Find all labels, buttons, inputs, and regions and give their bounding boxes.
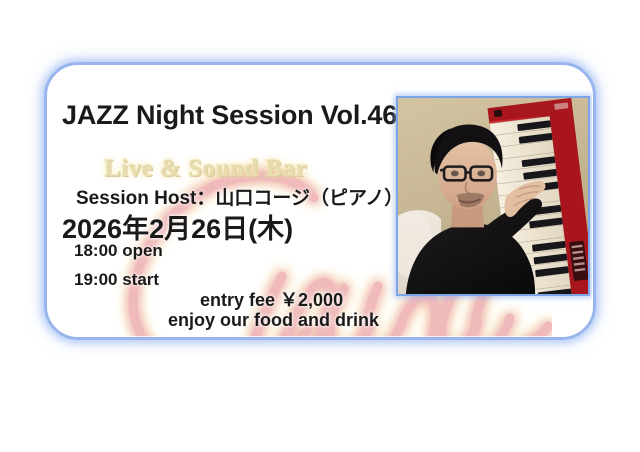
pianist-photo [396, 96, 590, 296]
tagline-live-and-sound-bar: Live & Sound Bar [104, 155, 307, 183]
start-time-line: 19:00 start [74, 270, 159, 290]
food-and-drink-line: enjoy our food and drink [168, 310, 379, 331]
session-host-line: Session Host：山口コージ（ピアノ） [76, 183, 403, 210]
entry-fee-line: entry fee ￥2,000 [200, 286, 343, 312]
flyer-title: JAZZ Night Session Vol.46 [62, 100, 397, 131]
open-time-line: 18:00 open [74, 241, 163, 261]
